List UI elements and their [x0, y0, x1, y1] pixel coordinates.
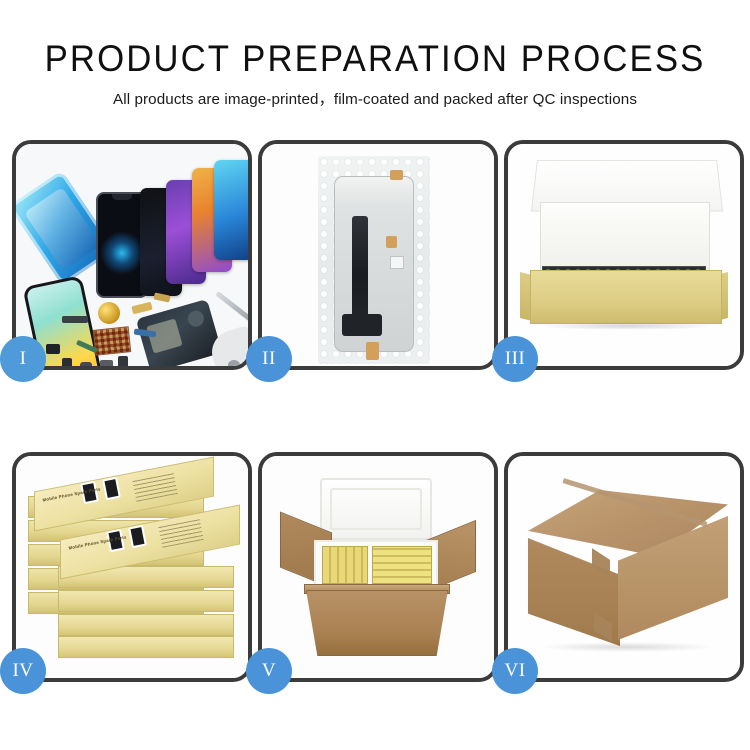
bubble-bag-icon: [318, 156, 430, 364]
component-icon: [46, 344, 60, 354]
yellow-box-group: [372, 546, 432, 584]
carton-body-icon: [306, 590, 448, 656]
tweezers-icon: [215, 291, 248, 322]
flex-cable-icon: [352, 216, 368, 336]
step-panel-2[interactable]: II: [258, 140, 498, 370]
yellow-box-group: [322, 546, 368, 584]
stacked-box: [58, 590, 234, 612]
component-icon: [131, 302, 152, 315]
step-badge-6: VI: [492, 648, 538, 694]
yellow-box-icon: [530, 270, 722, 324]
step-image-4: Mobile Phone Spare Parts Mobile Phone Sp…: [16, 456, 248, 678]
stacked-box: [58, 614, 234, 636]
box-lid-face-icon: [540, 202, 710, 272]
speaker-coil-icon: [98, 302, 120, 324]
process-steps-grid: I II III: [12, 140, 745, 684]
step-panel-5[interactable]: V: [258, 452, 498, 682]
step-panel-4[interactable]: Mobile Phone Spare Parts Mobile Phone Sp…: [12, 452, 252, 682]
page-title: PRODUCT PREPARATION PROCESS: [23, 38, 728, 80]
step-image-3: [508, 144, 740, 366]
step-badge-1: I: [0, 336, 46, 382]
step-panel-6[interactable]: VI: [504, 452, 744, 682]
chip-icon: [93, 326, 132, 356]
tape-icon: [386, 236, 397, 248]
box-stack-icon: Mobile Phone Spare Parts Mobile Phone Sp…: [24, 464, 246, 676]
step-image-6: [508, 456, 740, 678]
step-panel-1[interactable]: I: [12, 140, 252, 370]
component-icon: [118, 356, 128, 366]
component-icon: [80, 362, 92, 366]
page-header: PRODUCT PREPARATION PROCESS All products…: [0, 0, 750, 110]
step-badge-3: III: [492, 336, 538, 382]
component-icon: [62, 358, 72, 366]
component-icon: [228, 360, 240, 366]
tape-icon: [366, 342, 379, 360]
phone-icon: [214, 160, 248, 260]
connector-icon: [390, 256, 404, 269]
step-badge-4: IV: [0, 648, 46, 694]
drop-shadow: [538, 322, 716, 330]
step-badge-2: II: [246, 336, 292, 382]
step-panel-3[interactable]: III: [504, 140, 744, 370]
step-badge-5: V: [246, 648, 292, 694]
component-icon: [100, 360, 113, 366]
page-subtitle: All products are image-printed，film-coat…: [0, 90, 750, 110]
component-icon: [62, 316, 88, 323]
stacked-box: [58, 636, 234, 658]
tape-icon: [390, 170, 403, 180]
step-image-1: [16, 144, 248, 366]
step-image-2: [262, 144, 494, 366]
drop-shadow: [538, 642, 716, 652]
foam-lid-icon: [320, 478, 432, 540]
step-image-5: [262, 456, 494, 678]
